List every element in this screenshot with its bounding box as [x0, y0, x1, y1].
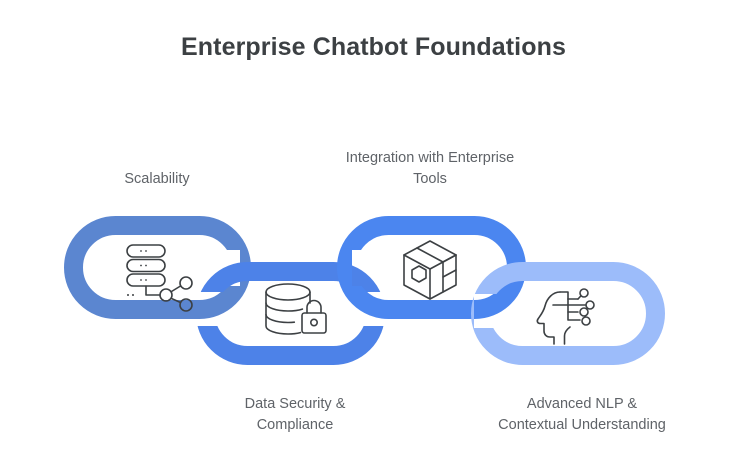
infographic-canvas: Enterprise Chatbot Foundations — [0, 0, 747, 450]
chain-diagram — [0, 0, 747, 450]
chain-label-data-security: Data Security & Compliance — [215, 394, 375, 436]
chain-label-advanced-nlp: Advanced NLP & Contextual Understanding — [462, 394, 702, 436]
cube-package-icon — [404, 241, 456, 299]
database-lock-icon — [266, 284, 326, 334]
ai-head-circuit-icon — [537, 289, 594, 344]
chain-label-scalability: Scalability — [77, 169, 237, 190]
chain-label-integration: Integration with Enterprise Tools — [330, 148, 530, 190]
